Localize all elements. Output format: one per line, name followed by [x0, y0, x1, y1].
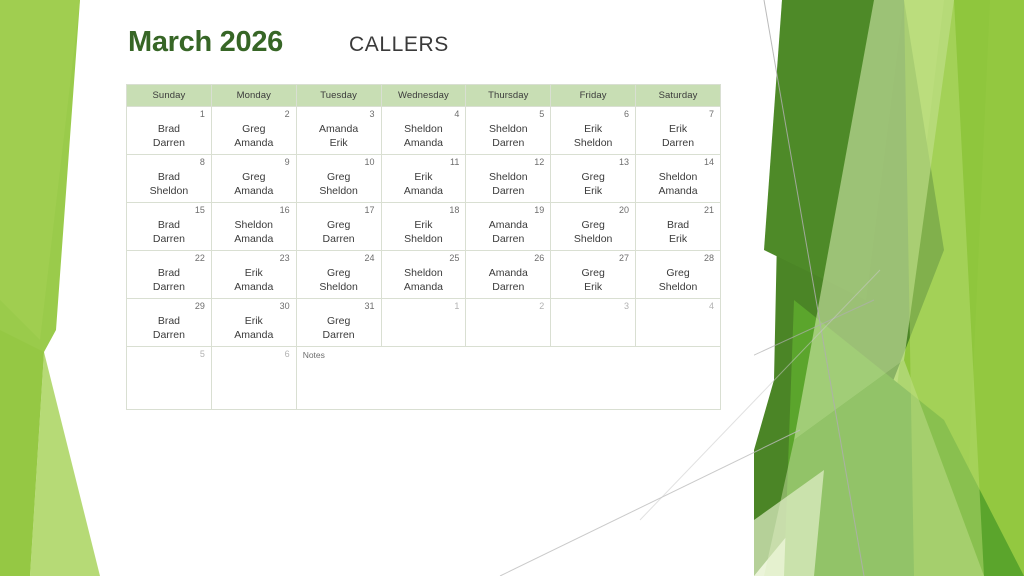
caller-names: GregDarren [297, 311, 381, 343]
day-number: 1 [127, 107, 211, 119]
caller-names: GregSheldon [636, 263, 720, 295]
calendar-day-cell[interactable]: 5 [127, 347, 212, 410]
caller-name: Amanda [466, 218, 550, 232]
caller-names: GregAmanda [212, 119, 296, 151]
caller-name: Sheldon [382, 232, 466, 246]
caller-names: ErikAmanda [212, 311, 296, 343]
day-number: 27 [551, 251, 635, 263]
caller-names: BradSheldon [127, 167, 211, 199]
caller-names: BradDarren [127, 311, 211, 343]
caller-name: Brad [127, 218, 211, 232]
calendar-day-cell[interactable]: 5SheldonDarren [466, 107, 551, 155]
calendar-day-cell[interactable]: 1BradDarren [127, 107, 212, 155]
caller-name: Amanda [382, 280, 466, 294]
slide-title-block: March 2026 CALLERS [128, 26, 748, 70]
right-green-decoration [754, 0, 1024, 576]
day-number: 10 [297, 155, 381, 167]
day-number: 2 [466, 299, 550, 311]
calendar-day-cell[interactable]: 16SheldonAmanda [211, 203, 296, 251]
caller-name: Sheldon [297, 184, 381, 198]
caller-name: Amanda [382, 136, 466, 150]
calendar-day-cell[interactable]: 29BradDarren [127, 299, 212, 347]
calendar-day-cell[interactable]: 25SheldonAmanda [381, 251, 466, 299]
caller-name: Greg [212, 122, 296, 136]
calendar-day-cell[interactable]: 3 [551, 299, 636, 347]
day-number: 1 [382, 299, 466, 311]
caller-name: Greg [297, 218, 381, 232]
calendar-day-cell[interactable]: 3AmandaErik [296, 107, 381, 155]
day-number: 9 [212, 155, 296, 167]
caller-name: Darren [297, 328, 381, 342]
caller-names: SheldonDarren [466, 167, 550, 199]
day-number: 20 [551, 203, 635, 215]
page-title: March 2026 [128, 26, 283, 59]
day-number: 30 [212, 299, 296, 311]
day-number: 3 [297, 107, 381, 119]
calendar-day-cell[interactable]: 10GregSheldon [296, 155, 381, 203]
caller-name: Darren [127, 232, 211, 246]
day-number: 19 [466, 203, 550, 215]
day-number: 25 [382, 251, 466, 263]
day-number: 16 [212, 203, 296, 215]
calendar-day-cell[interactable]: 2GregAmanda [211, 107, 296, 155]
day-number: 4 [382, 107, 466, 119]
caller-names: BradDarren [127, 119, 211, 151]
day-number: 26 [466, 251, 550, 263]
day-number: 28 [636, 251, 720, 263]
calendar-week-row: 22BradDarren23ErikAmanda24GregSheldon25S… [127, 251, 721, 299]
day-number: 17 [297, 203, 381, 215]
caller-name: Greg [551, 170, 635, 184]
caller-name: Greg [551, 218, 635, 232]
caller-name: Brad [127, 170, 211, 184]
calendar-table: SundayMondayTuesdayWednesdayThursdayFrid… [126, 84, 721, 410]
day-number: 23 [212, 251, 296, 263]
calendar-day-cell[interactable]: 27GregErik [551, 251, 636, 299]
caller-names: SheldonAmanda [382, 263, 466, 295]
weekday-header-row: SundayMondayTuesdayWednesdayThursdayFrid… [127, 85, 721, 107]
day-number: 21 [636, 203, 720, 215]
caller-name: Brad [127, 122, 211, 136]
caller-name: Amanda [212, 136, 296, 150]
caller-name: Brad [127, 314, 211, 328]
day-number: 12 [466, 155, 550, 167]
caller-name: Erik [297, 136, 381, 150]
caller-name: Amanda [382, 184, 466, 198]
day-number: 2 [212, 107, 296, 119]
caller-names: SheldonAmanda [382, 119, 466, 151]
caller-names: ErikSheldon [551, 119, 635, 151]
weekday-header-friday: Friday [551, 85, 636, 107]
caller-name: Amanda [636, 184, 720, 198]
calendar-day-cell[interactable]: 21BradErik [636, 203, 721, 251]
caller-names: BradErik [636, 215, 720, 247]
caller-name: Sheldon [636, 170, 720, 184]
caller-name: Amanda [212, 232, 296, 246]
caller-name: Erik [636, 122, 720, 136]
calendar-day-cell[interactable]: 24GregSheldon [296, 251, 381, 299]
caller-name: Sheldon [297, 280, 381, 294]
calendar-day-cell[interactable]: 11ErikAmanda [381, 155, 466, 203]
caller-names: GregErik [551, 263, 635, 295]
caller-name: Sheldon [382, 122, 466, 136]
caller-name: Amanda [212, 184, 296, 198]
caller-name: Erik [636, 232, 720, 246]
caller-name: Sheldon [466, 170, 550, 184]
caller-name: Greg [297, 266, 381, 280]
caller-names: GregErik [551, 167, 635, 199]
caller-name: Sheldon [466, 122, 550, 136]
calendar-week-row: 15BradDarren16SheldonAmanda17GregDarren1… [127, 203, 721, 251]
day-number: 5 [466, 107, 550, 119]
day-number: 24 [297, 251, 381, 263]
day-number: 5 [127, 347, 211, 359]
slide-canvas: March 2026 CALLERS SundayMondayTuesdayWe… [0, 0, 1024, 576]
caller-name: Darren [466, 280, 550, 294]
caller-name: Greg [551, 266, 635, 280]
day-number: 15 [127, 203, 211, 215]
calendar-week-row: 1BradDarren2GregAmanda3AmandaErik4Sheldo… [127, 107, 721, 155]
caller-names: GregSheldon [297, 263, 381, 295]
caller-names: GregSheldon [551, 215, 635, 247]
day-number: 7 [636, 107, 720, 119]
calendar-day-cell[interactable]: 15BradDarren [127, 203, 212, 251]
day-number: 14 [636, 155, 720, 167]
caller-name: Erik [212, 314, 296, 328]
caller-names: GregSheldon [297, 167, 381, 199]
caller-names: AmandaErik [297, 119, 381, 151]
calendar-day-cell[interactable]: 4SheldonAmanda [381, 107, 466, 155]
calendar-day-cell[interactable]: 30ErikAmanda [211, 299, 296, 347]
caller-name: Sheldon [636, 280, 720, 294]
day-number: 11 [382, 155, 466, 167]
day-number: 3 [551, 299, 635, 311]
caller-names: BradDarren [127, 215, 211, 247]
caller-name: Amanda [212, 328, 296, 342]
caller-name: Erik [382, 218, 466, 232]
caller-name: Sheldon [551, 232, 635, 246]
caller-name: Erik [551, 280, 635, 294]
calendar-day-cell[interactable]: 6ErikSheldon [551, 107, 636, 155]
day-number: 6 [551, 107, 635, 119]
caller-name: Sheldon [382, 266, 466, 280]
caller-name: Erik [551, 122, 635, 136]
caller-name: Sheldon [551, 136, 635, 150]
caller-name: Greg [636, 266, 720, 280]
calendar-week-row: 8BradSheldon9GregAmanda10GregSheldon11Er… [127, 155, 721, 203]
calendar-day-cell[interactable]: 2 [466, 299, 551, 347]
calendar-day-cell[interactable]: 28GregSheldon [636, 251, 721, 299]
day-number: 31 [297, 299, 381, 311]
notes-label: Notes [297, 347, 720, 360]
weekday-header-saturday: Saturday [636, 85, 721, 107]
calendar-day-cell[interactable]: 18ErikSheldon [381, 203, 466, 251]
caller-name: Sheldon [212, 218, 296, 232]
calendar-day-cell[interactable]: 17GregDarren [296, 203, 381, 251]
calendar-day-cell[interactable]: 9GregAmanda [211, 155, 296, 203]
caller-name: Darren [127, 136, 211, 150]
caller-names: BradDarren [127, 263, 211, 295]
caller-name: Darren [297, 232, 381, 246]
caller-names: ErikAmanda [382, 167, 466, 199]
weekday-header-thursday: Thursday [466, 85, 551, 107]
weekday-header-sunday: Sunday [127, 85, 212, 107]
caller-name: Darren [466, 136, 550, 150]
calendar-day-cell[interactable]: 26AmandaDarren [466, 251, 551, 299]
caller-name: Sheldon [127, 184, 211, 198]
day-number: 4 [636, 299, 720, 311]
notes-cell[interactable]: Notes [296, 347, 720, 410]
calendar-day-cell[interactable]: 4 [636, 299, 721, 347]
caller-names: SheldonAmanda [212, 215, 296, 247]
weekday-header-tuesday: Tuesday [296, 85, 381, 107]
caller-names: SheldonAmanda [636, 167, 720, 199]
caller-name: Darren [466, 232, 550, 246]
caller-name: Greg [212, 170, 296, 184]
caller-name: Darren [127, 328, 211, 342]
caller-name: Greg [297, 314, 381, 328]
weekday-header-monday: Monday [211, 85, 296, 107]
caller-names: AmandaDarren [466, 263, 550, 295]
calendar-day-cell[interactable]: 1 [381, 299, 466, 347]
calendar-day-cell[interactable]: 7ErikDarren [636, 107, 721, 155]
caller-names: SheldonDarren [466, 119, 550, 151]
calendar-notes-row: 56Notes [127, 347, 721, 410]
caller-names: ErikDarren [636, 119, 720, 151]
calendar-day-cell[interactable]: 31GregDarren [296, 299, 381, 347]
caller-names: ErikAmanda [212, 263, 296, 295]
calendar-day-cell[interactable]: 13GregErik [551, 155, 636, 203]
weekday-header-wednesday: Wednesday [381, 85, 466, 107]
calendar-day-cell[interactable]: 19AmandaDarren [466, 203, 551, 251]
caller-name: Erik [382, 170, 466, 184]
caller-name: Brad [127, 266, 211, 280]
calendar-day-cell[interactable]: 22BradDarren [127, 251, 212, 299]
day-number: 22 [127, 251, 211, 263]
subject-title: CALLERS [349, 33, 449, 57]
caller-name: Erik [212, 266, 296, 280]
calendar-day-cell[interactable]: 12SheldonDarren [466, 155, 551, 203]
day-number: 29 [127, 299, 211, 311]
calendar-week-row: 29BradDarren30ErikAmanda31GregDarren1234 [127, 299, 721, 347]
left-green-decoration [0, 0, 140, 576]
calendar-day-cell[interactable]: 6 [211, 347, 296, 410]
caller-name: Erik [551, 184, 635, 198]
caller-names: GregAmanda [212, 167, 296, 199]
caller-name: Darren [636, 136, 720, 150]
caller-name: Amanda [297, 122, 381, 136]
calendar-day-cell[interactable]: 20GregSheldon [551, 203, 636, 251]
caller-name: Greg [297, 170, 381, 184]
day-number: 13 [551, 155, 635, 167]
caller-name: Brad [636, 218, 720, 232]
caller-names: GregDarren [297, 215, 381, 247]
caller-name: Darren [127, 280, 211, 294]
calendar-day-cell[interactable]: 23ErikAmanda [211, 251, 296, 299]
caller-name: Darren [466, 184, 550, 198]
day-number: 8 [127, 155, 211, 167]
calendar-day-cell[interactable]: 8BradSheldon [127, 155, 212, 203]
day-number: 6 [212, 347, 296, 359]
caller-names: ErikSheldon [382, 215, 466, 247]
calendar-day-cell[interactable]: 14SheldonAmanda [636, 155, 721, 203]
caller-names: AmandaDarren [466, 215, 550, 247]
caller-name: Amanda [466, 266, 550, 280]
caller-name: Amanda [212, 280, 296, 294]
day-number: 18 [382, 203, 466, 215]
